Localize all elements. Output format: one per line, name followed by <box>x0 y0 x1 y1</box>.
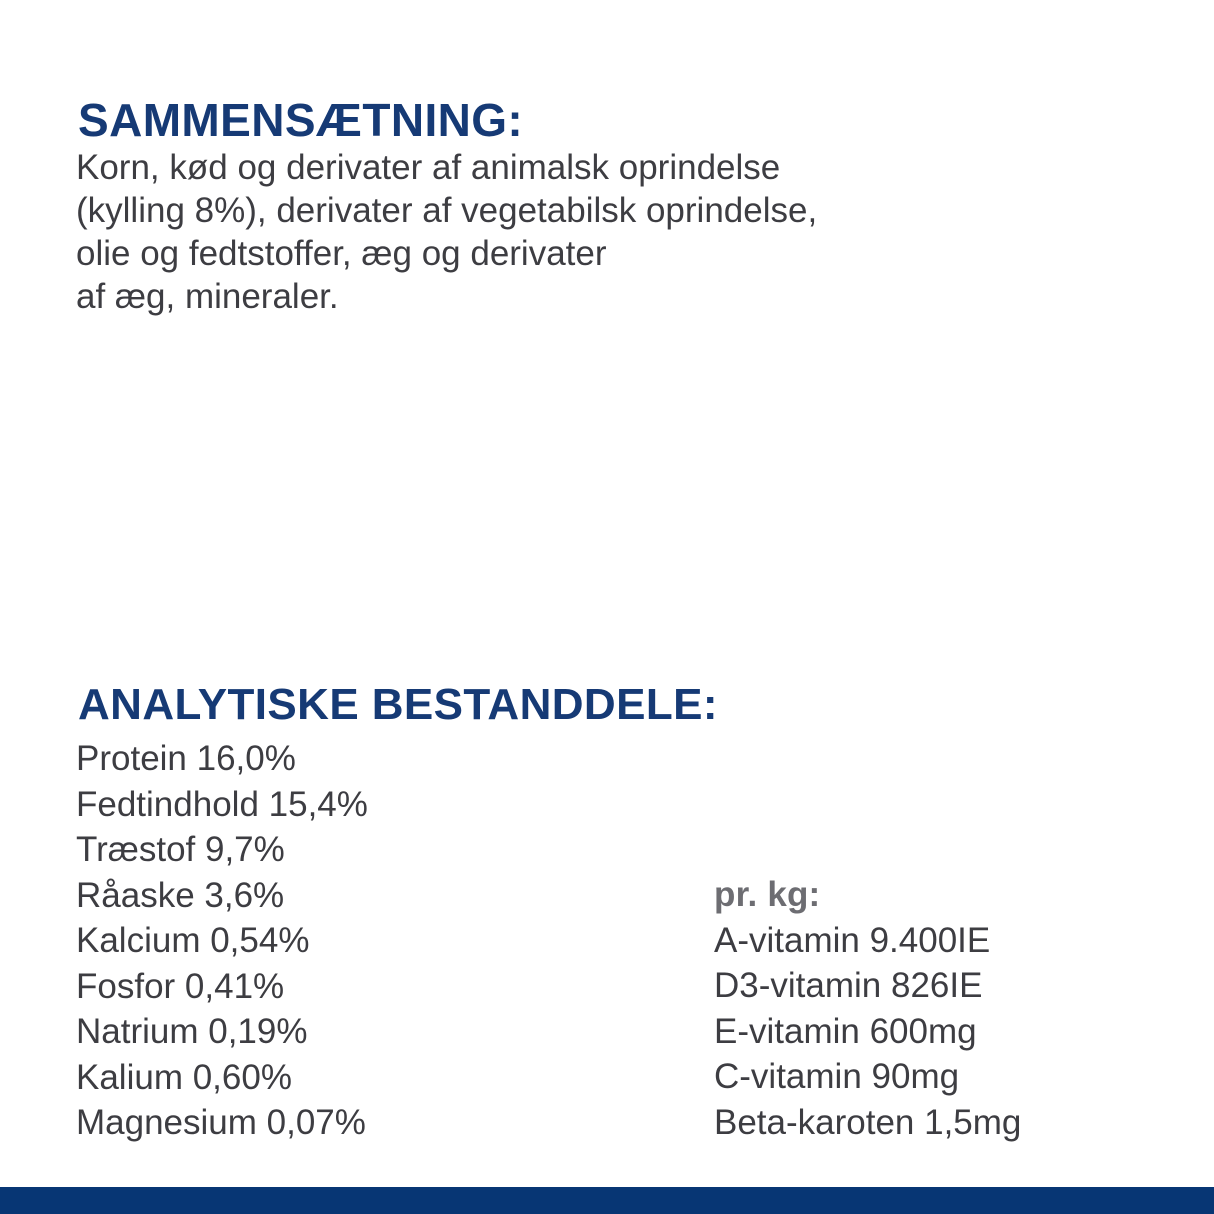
constituent-row: Råaske 3,6% <box>76 873 636 919</box>
analytical-right-column: pr. kg: A-vitamin 9.400IE D3-vitamin 826… <box>714 872 1174 1145</box>
vitamin-row: Beta-karoten 1,5mg <box>714 1100 1174 1146</box>
composition-line: olie og fedtstoffer, æg og derivater <box>76 232 1096 275</box>
analytical-constituents-heading: ANALYTISKE BESTANDDELE: <box>78 683 718 727</box>
composition-line: (kylling 8%), derivater af vegetabilsk o… <box>76 189 1096 232</box>
composition-heading: SAMMENSÆTNING: <box>78 97 523 143</box>
constituent-row: Træstof 9,7% <box>76 827 636 873</box>
constituent-row: Magnesium 0,07% <box>76 1100 636 1146</box>
constituent-row: Kalium 0,60% <box>76 1055 636 1101</box>
vitamin-row: E-vitamin 600mg <box>714 1009 1174 1055</box>
composition-text: Korn, kød og derivater af animalsk oprin… <box>76 146 1096 318</box>
analytical-constituents-columns: Protein 16,0% Fedtindhold 15,4% Træstof … <box>0 736 1214 1136</box>
constituent-row: Protein 16,0% <box>76 736 636 782</box>
vitamin-row: A-vitamin 9.400IE <box>714 918 1174 964</box>
constituent-row: Kalcium 0,54% <box>76 918 636 964</box>
analytical-left-column: Protein 16,0% Fedtindhold 15,4% Træstof … <box>76 736 636 1146</box>
constituent-row: Fosfor 0,41% <box>76 964 636 1010</box>
composition-line: Korn, kød og derivater af animalsk oprin… <box>76 146 1096 189</box>
vitamin-row: C-vitamin 90mg <box>714 1054 1174 1100</box>
bottom-accent-bar <box>0 1187 1214 1214</box>
nutrition-info-panel: SAMMENSÆTNING: Korn, kød og derivater af… <box>0 0 1214 1214</box>
vitamin-row: D3-vitamin 826IE <box>714 963 1174 1009</box>
constituent-row: Natrium 0,19% <box>76 1009 636 1055</box>
composition-line: af æg, mineraler. <box>76 275 1096 318</box>
constituent-row: Fedtindhold 15,4% <box>76 782 636 828</box>
per-kg-subheading: pr. kg: <box>714 872 1174 918</box>
